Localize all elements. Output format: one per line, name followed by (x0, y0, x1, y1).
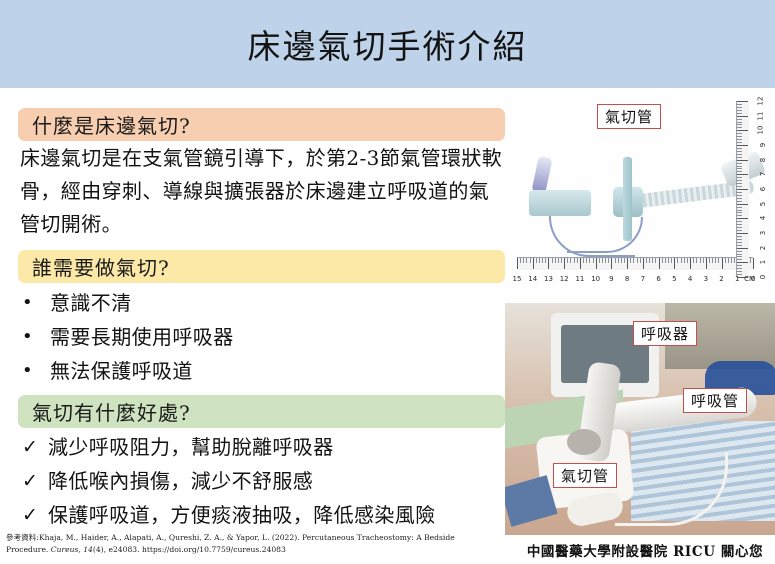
section-header-who: 誰需要做氣切? (18, 250, 505, 283)
ruler-h-number: 14 (528, 275, 537, 283)
trach-barrel (529, 190, 591, 216)
ruler-h-number: 7 (641, 275, 645, 283)
organization-footer: 中國醫藥大學附設醫院 RICU 關心您 (520, 540, 770, 560)
ruler-h-number: 4 (688, 275, 692, 283)
list-item: • 需要長期使用呼吸器 (22, 320, 507, 354)
ruler-v-number: 7 (759, 172, 767, 176)
photo-clinical-scene: 呼吸器 呼吸管 氣切管 (505, 303, 775, 535)
ruler-h-number: 13 (544, 275, 553, 283)
label-trach-tube-bottom: 氣切管 (553, 463, 617, 488)
list-item-label: 無法保護呼吸道 (50, 354, 193, 388)
ruler-v-number: 8 (759, 157, 767, 161)
section-header-benefits: 氣切有什麼好處? (18, 395, 505, 428)
ruler-h-number: 9 (609, 275, 613, 283)
list-item: • 意識不清 (22, 286, 507, 320)
ruler-v-number: 4 (759, 216, 767, 220)
ruler-h-number: 5 (672, 275, 676, 283)
ruler-horizontal (517, 257, 753, 270)
label-trach-tube-top: 氣切管 (597, 104, 661, 129)
list-item: • 無法保護呼吸道 (22, 354, 507, 388)
ruler-h-number: 10 (591, 275, 600, 283)
ruler-v-number: 11 (757, 111, 765, 120)
ruler-vertical (736, 101, 749, 277)
list-item-label: 意識不清 (50, 286, 132, 320)
check-icon: ✓ (22, 464, 48, 498)
check-icon: ✓ (22, 498, 48, 532)
reference-citation: 參考資料:Khaja, M., Haider, A., Alapati, A.,… (6, 532, 506, 555)
ruler-h-number: 3 (704, 275, 708, 283)
list-item: ✓ 減少呼吸阻力，幫助脫離呼吸器 (22, 430, 507, 464)
ruler-v-number: 0 (759, 275, 767, 279)
ruler-v-number: 1 (759, 260, 767, 264)
benefits-list: ✓ 減少呼吸阻力，幫助脫離呼吸器 ✓ 降低喉內損傷，減少不舒服感 ✓ 保護呼吸道… (22, 430, 507, 532)
ruler-v-number: 5 (759, 201, 767, 205)
who-list: • 意識不清 • 需要長期使用呼吸器 • 無法保護呼吸道 (22, 286, 507, 388)
reference-line-1: Khaja, M., Haider, A., Alapati, A., Qure… (39, 533, 455, 542)
ruler-unit-label: CM (744, 275, 755, 283)
ruler-v-number: 2 (759, 245, 767, 249)
section-header-benefits-label: 氣切有什麼好處? (32, 397, 191, 426)
ruler-h-number: 15 (513, 275, 522, 283)
trach-pilot-line (531, 156, 552, 194)
ruler-v-number: 12 (757, 97, 765, 106)
title-banner: 床邊氣切手術介紹 (0, 0, 775, 88)
section-what-paragraph: 床邊氣切是在支氣管鏡引導下，於第2-3節氣管環狀軟骨，經由穿刺、導線與擴張器於床… (20, 142, 505, 241)
label-breathing-tube: 呼吸管 (683, 388, 747, 413)
section-header-what-label: 什麼是床邊氣切? (32, 110, 191, 139)
reference-line-2-pre: Procedure. (6, 545, 51, 554)
bullet-icon: • (22, 286, 50, 320)
ruler-v-number: 3 (759, 231, 767, 235)
ruler-v-number: 9 (759, 143, 767, 147)
list-item: ✓ 降低喉內損傷，減少不舒服感 (22, 464, 507, 498)
ruler-h-number: 12 (560, 275, 569, 283)
bullet-icon: • (22, 320, 50, 354)
reference-line-2-post: (4), e24083. https://doi.org/10.7759/cur… (93, 545, 286, 554)
bullet-icon: • (22, 354, 50, 388)
list-item: ✓ 保護呼吸道，方便痰液抽吸，降低感染風險 (22, 498, 507, 532)
ruler-h-number: 8 (625, 275, 629, 283)
photo-trach-tube: 1514131211109876543210 1211109876543210 … (505, 95, 775, 300)
page-title: 床邊氣切手術介紹 (248, 20, 528, 68)
ruler-v-number: 10 (757, 126, 765, 135)
slide-root: 床邊氣切手術介紹 什麼是床邊氣切? 床邊氣切是在支氣管鏡引導下，於第2-3節氣管… (0, 0, 775, 564)
ruler-h-number: 1 (735, 275, 739, 283)
ruler-h-number: 6 (656, 275, 660, 283)
list-item-label: 降低喉內損傷，減少不舒服感 (48, 464, 313, 498)
section-header-who-label: 誰需要做氣切? (32, 252, 170, 281)
section-header-what: 什麼是床邊氣切? (18, 108, 505, 141)
label-ventilator: 呼吸器 (633, 321, 697, 346)
check-icon: ✓ (22, 430, 48, 464)
ruler-v-number: 6 (759, 187, 767, 191)
stoma-ring (567, 429, 601, 455)
list-item-label: 減少呼吸阻力，幫助脫離呼吸器 (48, 430, 334, 464)
content-column: 什麼是床邊氣切? 床邊氣切是在支氣管鏡引導下，於第2-3節氣管環狀軟骨，經由穿刺… (0, 88, 512, 528)
ruler-h-number: 2 (719, 275, 723, 283)
ruler-h-number: 11 (575, 275, 584, 283)
list-item-label: 保護呼吸道，方便痰液抽吸，降低感染風險 (48, 498, 436, 532)
list-item-label: 需要長期使用呼吸器 (50, 320, 234, 354)
trach-neck-flange (623, 157, 632, 241)
reference-journal: Cureus, 14 (51, 545, 93, 554)
reference-prefix: 參考資料: (6, 533, 39, 542)
